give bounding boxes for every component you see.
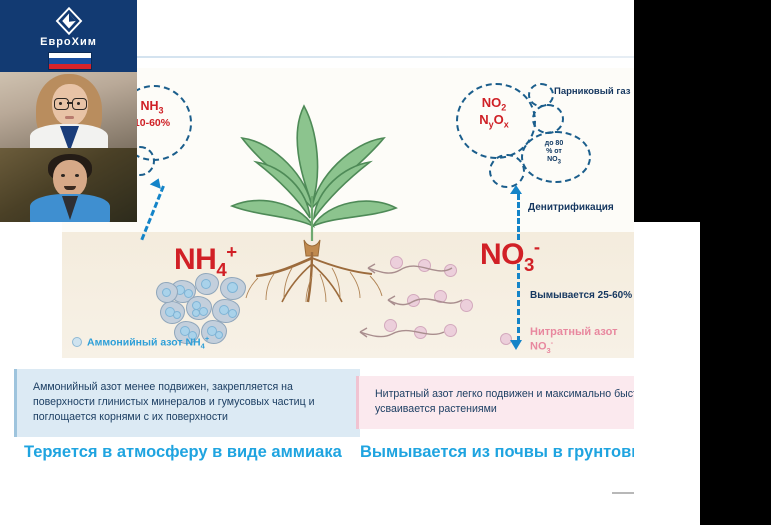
video-tile-participant-2[interactable] <box>0 148 137 222</box>
nox-bubble-small-3 <box>489 154 525 188</box>
ammonium-info-box: Аммонийный азот менее подвижен, закрепля… <box>14 369 360 437</box>
nox-bubble-small-2 <box>532 104 564 134</box>
video-rail-backdrop <box>634 222 700 525</box>
denitrification-arrow <box>517 194 520 240</box>
leaching-percentage-label: Вымывается 25-60% <box>530 290 632 301</box>
leaching-flow-arrows <box>352 248 482 348</box>
nitrate-info-text: Нитратный азот легко подвижен и максимал… <box>375 388 650 415</box>
denitrification-label: Денитрификация <box>528 202 614 213</box>
eurochem-logo-icon <box>54 6 84 36</box>
greenhouse-gas-label: Парниковый газ <box>554 86 630 97</box>
legend-ammonium-marker <box>72 337 82 347</box>
brand-name: ЕвроХим <box>0 36 137 48</box>
russia-flag-icon <box>48 52 92 70</box>
legend-ammonium: Аммонийный азот NH4+ <box>72 334 209 351</box>
ammonium-headline: Теряется в атмосферу в виде аммиака <box>24 443 342 462</box>
nox-bubble-text: NO2 NyOx <box>456 96 532 130</box>
leaching-arrow <box>517 264 520 342</box>
leaching-arrowhead <box>510 340 522 350</box>
ammonium-info-text: Аммонийный азот менее подвижен, закрепля… <box>33 381 315 423</box>
share-bubble-text: до 80 % от NO3 <box>521 140 587 166</box>
nitrogen-cycle-diagram: NH3 10-60% <box>62 68 670 358</box>
video-tile-brand[interactable]: ЕвроХим <box>0 0 137 72</box>
legend-nitrate: Нитратный азот NO3- <box>530 326 617 356</box>
nitrate-ion-label: NO3- <box>480 236 540 276</box>
denitrification-arrowhead <box>510 185 522 194</box>
video-tile-participant-1[interactable] <box>0 72 137 148</box>
